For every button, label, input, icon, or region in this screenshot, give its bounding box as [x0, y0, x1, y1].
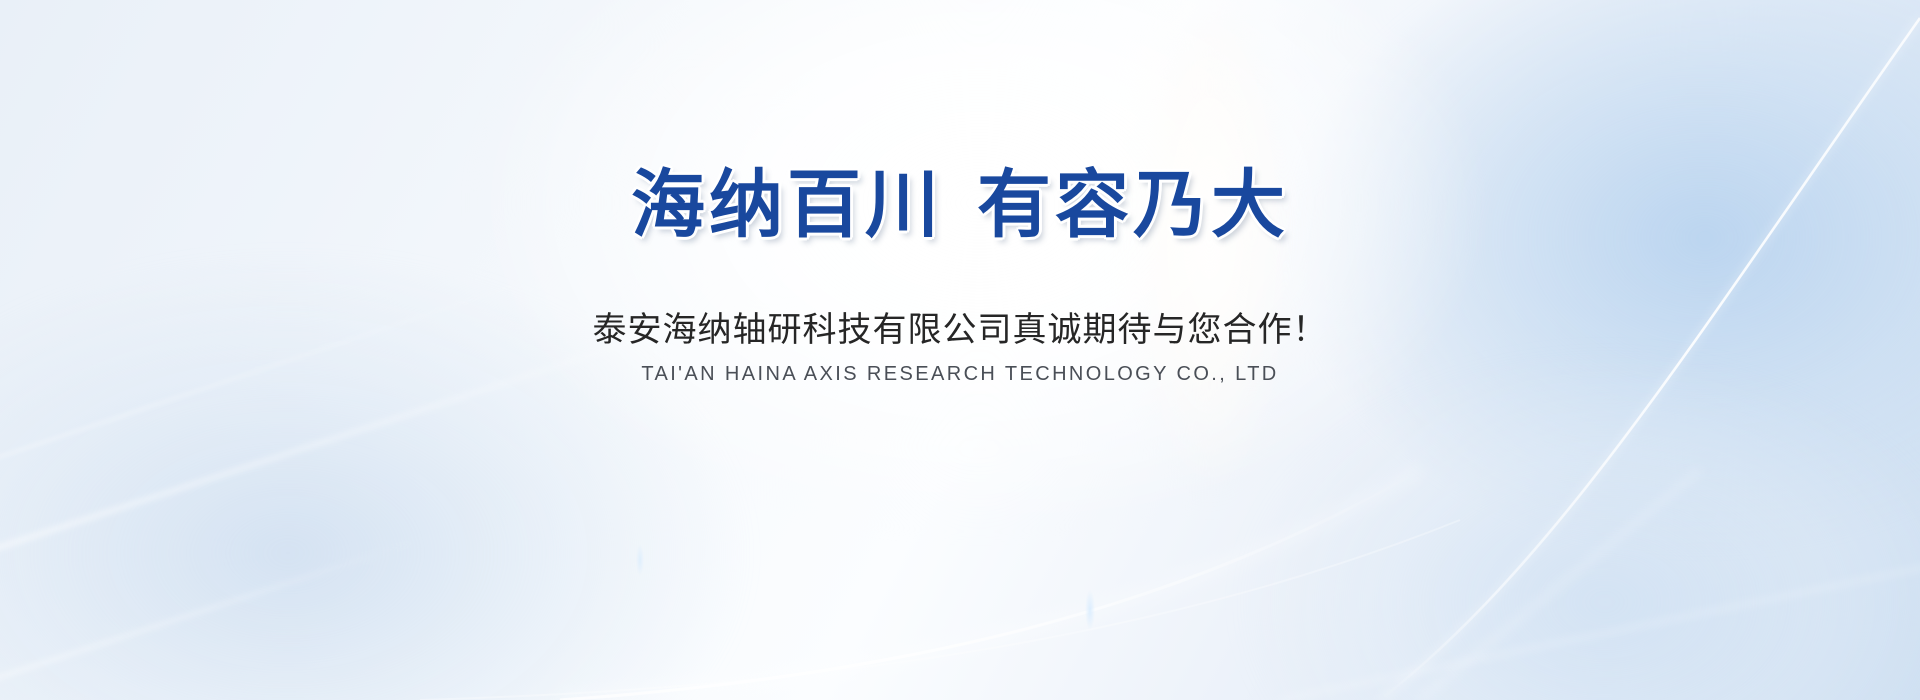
banner-subtitle-cn: 泰安海纳轴研科技有限公司真诚期待与您合作！ [0, 310, 1920, 351]
headline-part-2: 有容乃大 [977, 163, 1289, 246]
hero-banner: 海纳百川有容乃大 泰安海纳轴研科技有限公司真诚期待与您合作！ TAI'AN HA… [0, 0, 1920, 700]
headline-part-1: 海纳百川 [631, 163, 943, 246]
banner-content: 海纳百川有容乃大 泰安海纳轴研科技有限公司真诚期待与您合作！ TAI'AN HA… [0, 0, 1920, 700]
banner-headline: 海纳百川有容乃大 [0, 168, 1920, 242]
banner-subtitle-en: TAI'AN HAINA AXIS RESEARCH TECHNOLOGY CO… [0, 362, 1920, 386]
